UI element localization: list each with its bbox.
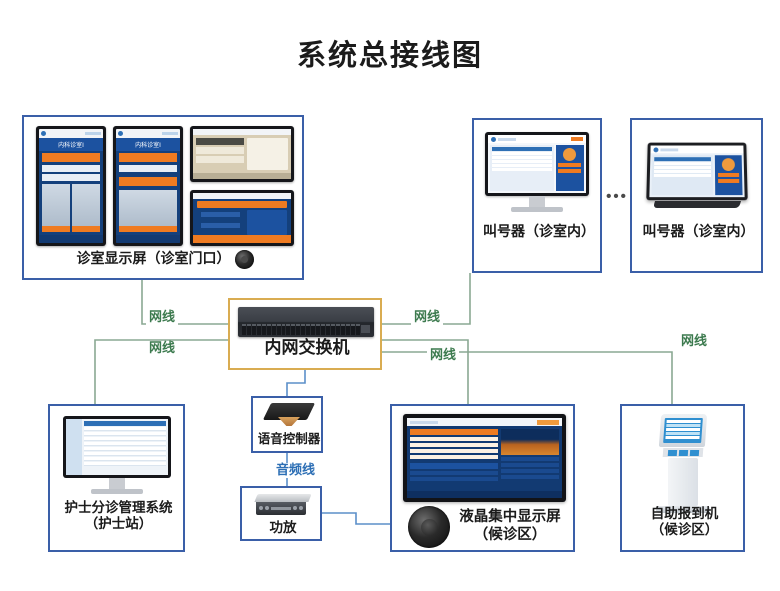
nurse-station-caption-line2: （护士站）: [85, 516, 153, 532]
kiosk-caption-line2: （候诊区）: [651, 522, 719, 538]
caller-tablet-caption: 叫号器（诊室内）: [632, 224, 765, 241]
switch-device-icon: [238, 307, 374, 337]
kiosk-device-icon: [654, 414, 712, 508]
clinic-display-screen-portrait-2: 内科诊室Ⅰ: [113, 126, 183, 246]
wire-switch-to-kiosk: [382, 352, 672, 404]
voice-controller-icon: [265, 403, 313, 429]
clinic-display-grid: 内科诊室Ⅰ 内科诊室Ⅰ: [36, 126, 294, 246]
amplifier-caption: 功放: [242, 520, 324, 536]
lcd-display-device: [403, 414, 566, 502]
lcd-display-caption-line2: （候诊区）: [474, 527, 547, 543]
lcd-display-caption-line1: 液晶集中显示屏: [459, 509, 561, 525]
clinic-display-screen-portrait-1: 内科诊室Ⅰ: [36, 126, 106, 246]
screen-header-text: 内科诊室Ⅰ: [116, 138, 180, 151]
clinic-display-screen-landscape-1: [190, 126, 294, 182]
panel-lcd-display[interactable]: 液晶集中显示屏 （候诊区）: [390, 404, 575, 552]
speaker-icon: [235, 250, 254, 269]
wire-label-net-clinic-displays: 网线: [146, 310, 178, 325]
wire-label-net-lcd-display: 网线: [427, 348, 459, 363]
panel-nurse-station[interactable]: 护士分诊管理系统 （护士站）: [48, 404, 185, 552]
wire-switch-to-voice-controller: [287, 370, 305, 396]
clinic-display-screen-landscape-2: [190, 190, 294, 246]
amplifier-icon: [256, 494, 310, 518]
panel-amplifier[interactable]: 功放: [240, 486, 322, 541]
wire-label-net-caller-monitor: 网线: [411, 310, 443, 325]
nurse-station-caption: 护士分诊管理系统 （护士站）: [50, 500, 187, 533]
lcd-display-caption: 液晶集中显示屏 （候诊区）: [459, 509, 561, 544]
voice-controller-caption: 语音控制器: [253, 431, 325, 446]
wire-label-net-kiosk: 网线: [678, 334, 710, 349]
caller-monitor-caption: 叫号器（诊室内）: [474, 224, 604, 241]
nurse-station-caption-line1: 护士分诊管理系统: [65, 500, 173, 516]
clinic-displays-caption: 诊室显示屏（诊室门口）: [77, 251, 231, 268]
panel-voice-controller[interactable]: 语音控制器: [251, 396, 323, 453]
caller-monitor-device: [485, 132, 589, 212]
panel-caller-tablet[interactable]: 叫号器（诊室内）: [630, 118, 763, 273]
speaker-icon: [408, 506, 450, 548]
switch-caption: 内网交换机: [230, 338, 384, 359]
nurse-monitor-device: [63, 416, 171, 494]
lcd-caption-row: 液晶集中显示屏 （候诊区）: [392, 506, 577, 548]
wire-label-net-nurse-station: 网线: [146, 341, 178, 356]
panel-caller-monitor[interactable]: 叫号器（诊室内）: [472, 118, 602, 273]
panel-clinic-displays[interactable]: 内科诊室Ⅰ 内科诊室Ⅰ: [22, 115, 304, 280]
panel-intranet-switch[interactable]: 内网交换机: [228, 298, 382, 370]
panel-self-service-kiosk[interactable]: 自助报到机 （候诊区）: [620, 404, 745, 552]
wire-label-audio-voice-to-amp: 音频线: [273, 463, 318, 478]
kiosk-caption-line1: 自助报到机: [651, 506, 719, 522]
screen-header-text: 内科诊室Ⅰ: [39, 138, 103, 151]
caller-ellipsis: •••: [606, 188, 628, 205]
clinic-displays-caption-row: 诊室显示屏（诊室门口）: [24, 250, 306, 269]
caller-tablet-device: [647, 142, 747, 208]
kiosk-caption: 自助报到机 （候诊区）: [622, 506, 747, 539]
diagram-canvas: 系统总接线图 网线 网线 网线 网线 网线 音频线: [0, 0, 780, 591]
